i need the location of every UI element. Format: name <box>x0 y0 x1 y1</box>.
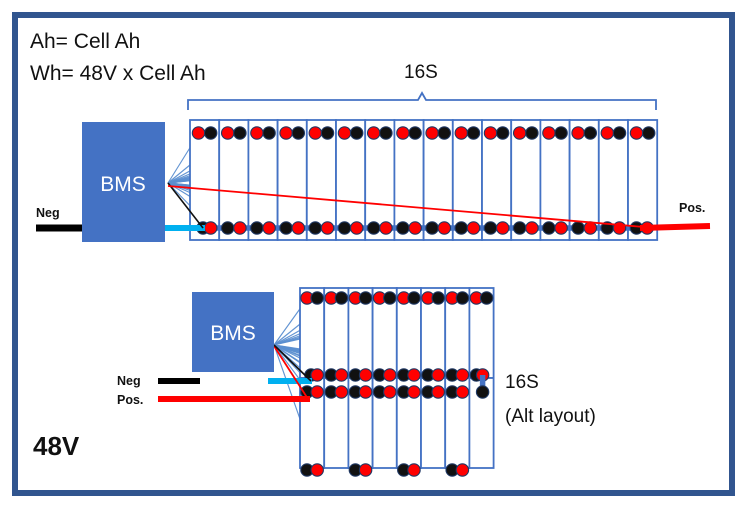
terminal-positive <box>409 222 421 234</box>
terminal-positive <box>292 222 304 234</box>
note-line-1: Ah= Cell Ah <box>30 30 140 53</box>
top-series-label: 16S <box>404 62 438 83</box>
terminal-positive <box>234 222 246 234</box>
terminal-positive <box>359 386 371 398</box>
terminal-positive <box>311 464 323 476</box>
terminal-negative <box>497 127 509 139</box>
terminal-negative <box>251 222 263 234</box>
terminal-positive <box>456 386 468 398</box>
terminal-negative <box>455 222 467 234</box>
terminal-positive <box>630 127 642 139</box>
terminal-positive <box>455 127 467 139</box>
terminal-negative <box>409 127 421 139</box>
terminal-positive <box>456 464 468 476</box>
terminal-positive <box>456 369 468 381</box>
terminal-positive <box>380 222 392 234</box>
terminal-positive <box>543 127 555 139</box>
terminal-negative <box>205 127 217 139</box>
terminal-positive <box>205 222 217 234</box>
terminal-positive <box>311 386 323 398</box>
terminal-negative <box>426 222 438 234</box>
terminal-negative <box>543 222 555 234</box>
note-line-2: Wh= 48V x Cell Ah <box>30 62 206 85</box>
terminal-negative <box>584 127 596 139</box>
terminal-negative <box>456 292 468 304</box>
terminal-positive <box>351 222 363 234</box>
terminal-positive <box>384 386 396 398</box>
terminal-positive <box>321 222 333 234</box>
terminal-positive <box>338 127 350 139</box>
terminal-negative <box>338 222 350 234</box>
terminal-positive <box>432 386 444 398</box>
terminal-positive <box>497 222 509 234</box>
terminal-negative <box>397 222 409 234</box>
terminal-positive <box>222 127 234 139</box>
terminal-positive <box>555 222 567 234</box>
terminal-positive <box>426 127 438 139</box>
terminal-positive <box>280 127 292 139</box>
terminal-positive <box>309 127 321 139</box>
bms-label-alt: BMS <box>210 322 256 345</box>
alt-sub-label: (Alt layout) <box>505 406 596 427</box>
terminal-negative <box>380 127 392 139</box>
terminal-positive <box>432 369 444 381</box>
terminal-negative <box>292 127 304 139</box>
terminal-positive <box>584 222 596 234</box>
terminal-positive <box>335 369 347 381</box>
terminal-negative <box>309 222 321 234</box>
terminal-positive <box>526 222 538 234</box>
alt-series-label: 16S <box>505 372 539 393</box>
terminal-positive <box>368 127 380 139</box>
terminal-positive <box>408 464 420 476</box>
terminal-positive <box>438 222 450 234</box>
terminal-negative <box>438 127 450 139</box>
terminal-positive <box>572 127 584 139</box>
terminal-negative <box>467 127 479 139</box>
terminal-negative <box>514 222 526 234</box>
terminal-positive <box>484 127 496 139</box>
terminal-negative <box>484 222 496 234</box>
terminal-negative <box>222 222 234 234</box>
terminal-negative <box>643 127 655 139</box>
terminal-positive <box>192 127 204 139</box>
terminal-positive <box>359 369 371 381</box>
terminal-negative <box>613 127 625 139</box>
terminal-negative <box>480 292 492 304</box>
terminal-positive <box>384 369 396 381</box>
terminal-negative <box>408 292 420 304</box>
terminal-negative <box>555 127 567 139</box>
top-pos-label: Pos. <box>679 201 705 215</box>
terminal-positive <box>514 127 526 139</box>
terminal-positive <box>311 369 323 381</box>
terminal-negative <box>263 127 275 139</box>
bms-label-top: BMS <box>100 173 146 196</box>
terminal-negative <box>476 386 488 398</box>
terminal-negative <box>432 292 444 304</box>
top-pos-wire <box>640 226 710 228</box>
diagram-canvas: Ah= Cell Ah Wh= 48V x Cell Ah 16S BMS Ne… <box>0 0 745 510</box>
terminal-negative <box>368 222 380 234</box>
alt-neg-label: Neg <box>117 374 141 388</box>
terminal-negative <box>384 292 396 304</box>
terminal-positive <box>601 127 613 139</box>
terminal-negative <box>280 222 292 234</box>
terminal-positive <box>408 386 420 398</box>
terminal-negative <box>335 292 347 304</box>
terminal-positive <box>467 222 479 234</box>
alt-pos-label: Pos. <box>117 393 143 407</box>
terminal-negative <box>572 222 584 234</box>
terminal-positive <box>408 369 420 381</box>
terminal-negative <box>234 127 246 139</box>
voltage-label: 48V <box>33 431 80 461</box>
terminal-negative <box>311 292 323 304</box>
terminal-negative <box>359 292 371 304</box>
terminal-positive <box>397 127 409 139</box>
terminal-positive <box>251 127 263 139</box>
terminal-positive <box>335 386 347 398</box>
terminal-positive <box>263 222 275 234</box>
terminal-negative <box>351 127 363 139</box>
battery-bms-diagram: Ah= Cell Ah Wh= 48V x Cell Ah 16S BMS Ne… <box>0 0 745 510</box>
top-neg-label: Neg <box>36 206 60 220</box>
terminal-negative <box>321 127 333 139</box>
terminal-positive <box>359 464 371 476</box>
terminal-negative <box>526 127 538 139</box>
